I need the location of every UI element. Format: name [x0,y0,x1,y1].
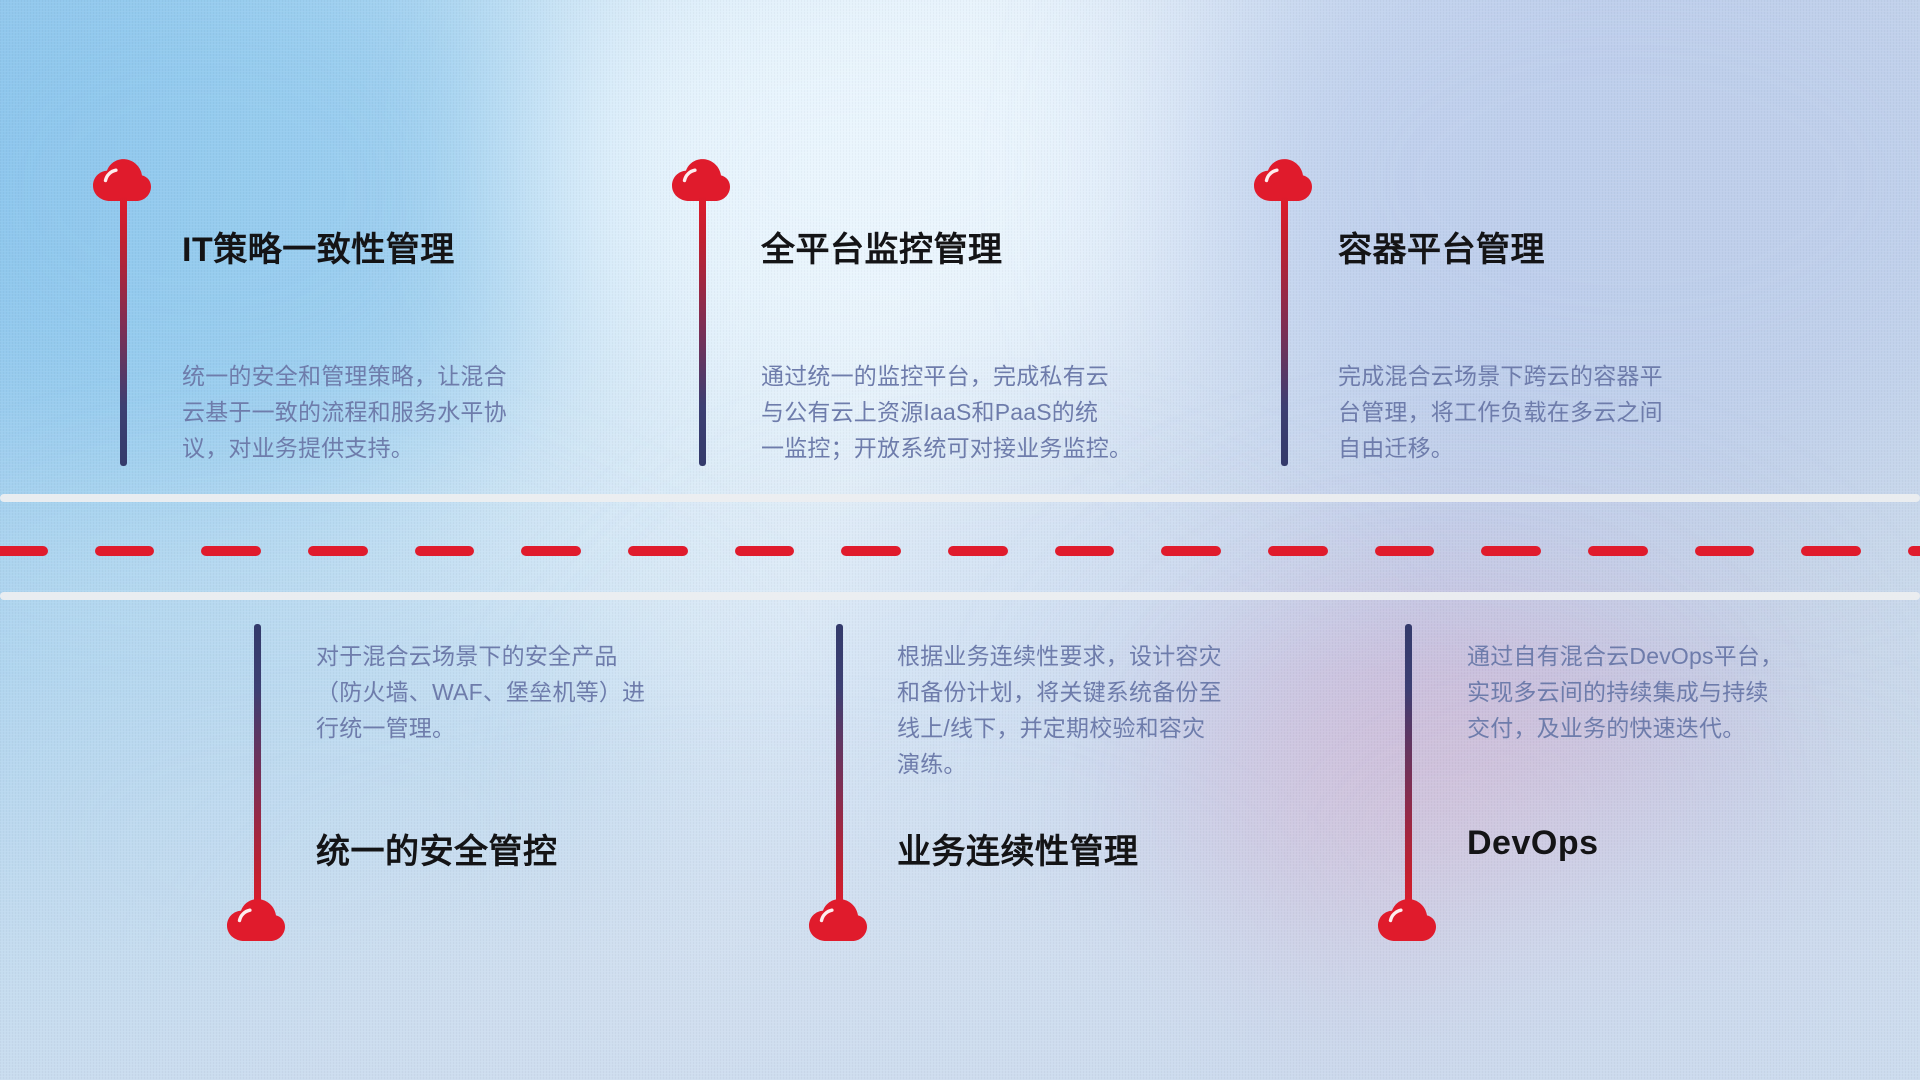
road-dash-segment [0,546,48,556]
road-dash-segment [521,546,581,556]
card-heading: DevOps [1467,824,1599,863]
cloud-icon [808,898,868,942]
card-heading: 全平台监控管理 [761,222,1003,271]
road-dash-segment [1268,546,1328,556]
road-dash-segment [948,546,1008,556]
cloud-icon [226,898,286,942]
card-heading: IT策略一致性管理 [182,222,455,271]
road-dash-segment [841,546,901,556]
road-dash-segment [1375,546,1435,556]
card-body: 通过自有混合云DevOps平台， 实现多云间的持续集成与持续 交付，及业务的快速… [1467,638,1897,746]
infographic-canvas: IT策略一致性管理 统一的安全和管理策略，让混合 云基于一致的流程和服务水平协 … [0,0,1920,1080]
card-heading: 业务连续性管理 [897,824,1139,873]
road-edge-top [0,494,1920,502]
card-body: 统一的安全和管理策略，让混合 云基于一致的流程和服务水平协 议，对业务提供支持。 [182,358,622,466]
road-dash-segment [415,546,475,556]
connector-stem [1281,196,1288,466]
road-dash-segment [628,546,688,556]
cloud-icon [1377,898,1437,942]
connector-stem [836,624,843,914]
connector-stem [120,196,127,466]
road-dash-segment [1801,546,1861,556]
road-dash-segment [95,546,155,556]
road-dash-segment [1161,546,1221,556]
road-dash-segment [1481,546,1541,556]
road-edge-bottom [0,592,1920,600]
card-body: 对于混合云场景下的安全产品 （防火墙、WAF、堡垒机等）进 行统一管理。 [316,638,746,746]
card-body: 通过统一的监控平台，完成私有云 与公有云上资源IaaS和PaaS的统 一监控；开… [761,358,1231,466]
card-heading: 容器平台管理 [1338,222,1545,271]
connector-stem [699,196,706,466]
road-center-dashed-line [0,546,1920,556]
road-dash-segment [308,546,368,556]
card-body: 完成混合云场景下跨云的容器平 台管理，将工作负载在多云之间 自由迁移。 [1338,358,1788,466]
connector-stem [254,624,261,914]
card-heading: 统一的安全管控 [316,824,558,873]
road-dash-segment [1055,546,1115,556]
road-dash-segment [735,546,795,556]
background-texture [0,0,1920,1080]
road-dash-segment [1908,546,1920,556]
road-dash-segment [1695,546,1755,556]
card-body: 根据业务连续性要求，设计容灾 和备份计划，将关键系统备份至 线上/线下，并定期校… [897,638,1337,782]
road-dash-segment [1588,546,1648,556]
connector-stem [1405,624,1412,914]
road-dash-segment [201,546,261,556]
